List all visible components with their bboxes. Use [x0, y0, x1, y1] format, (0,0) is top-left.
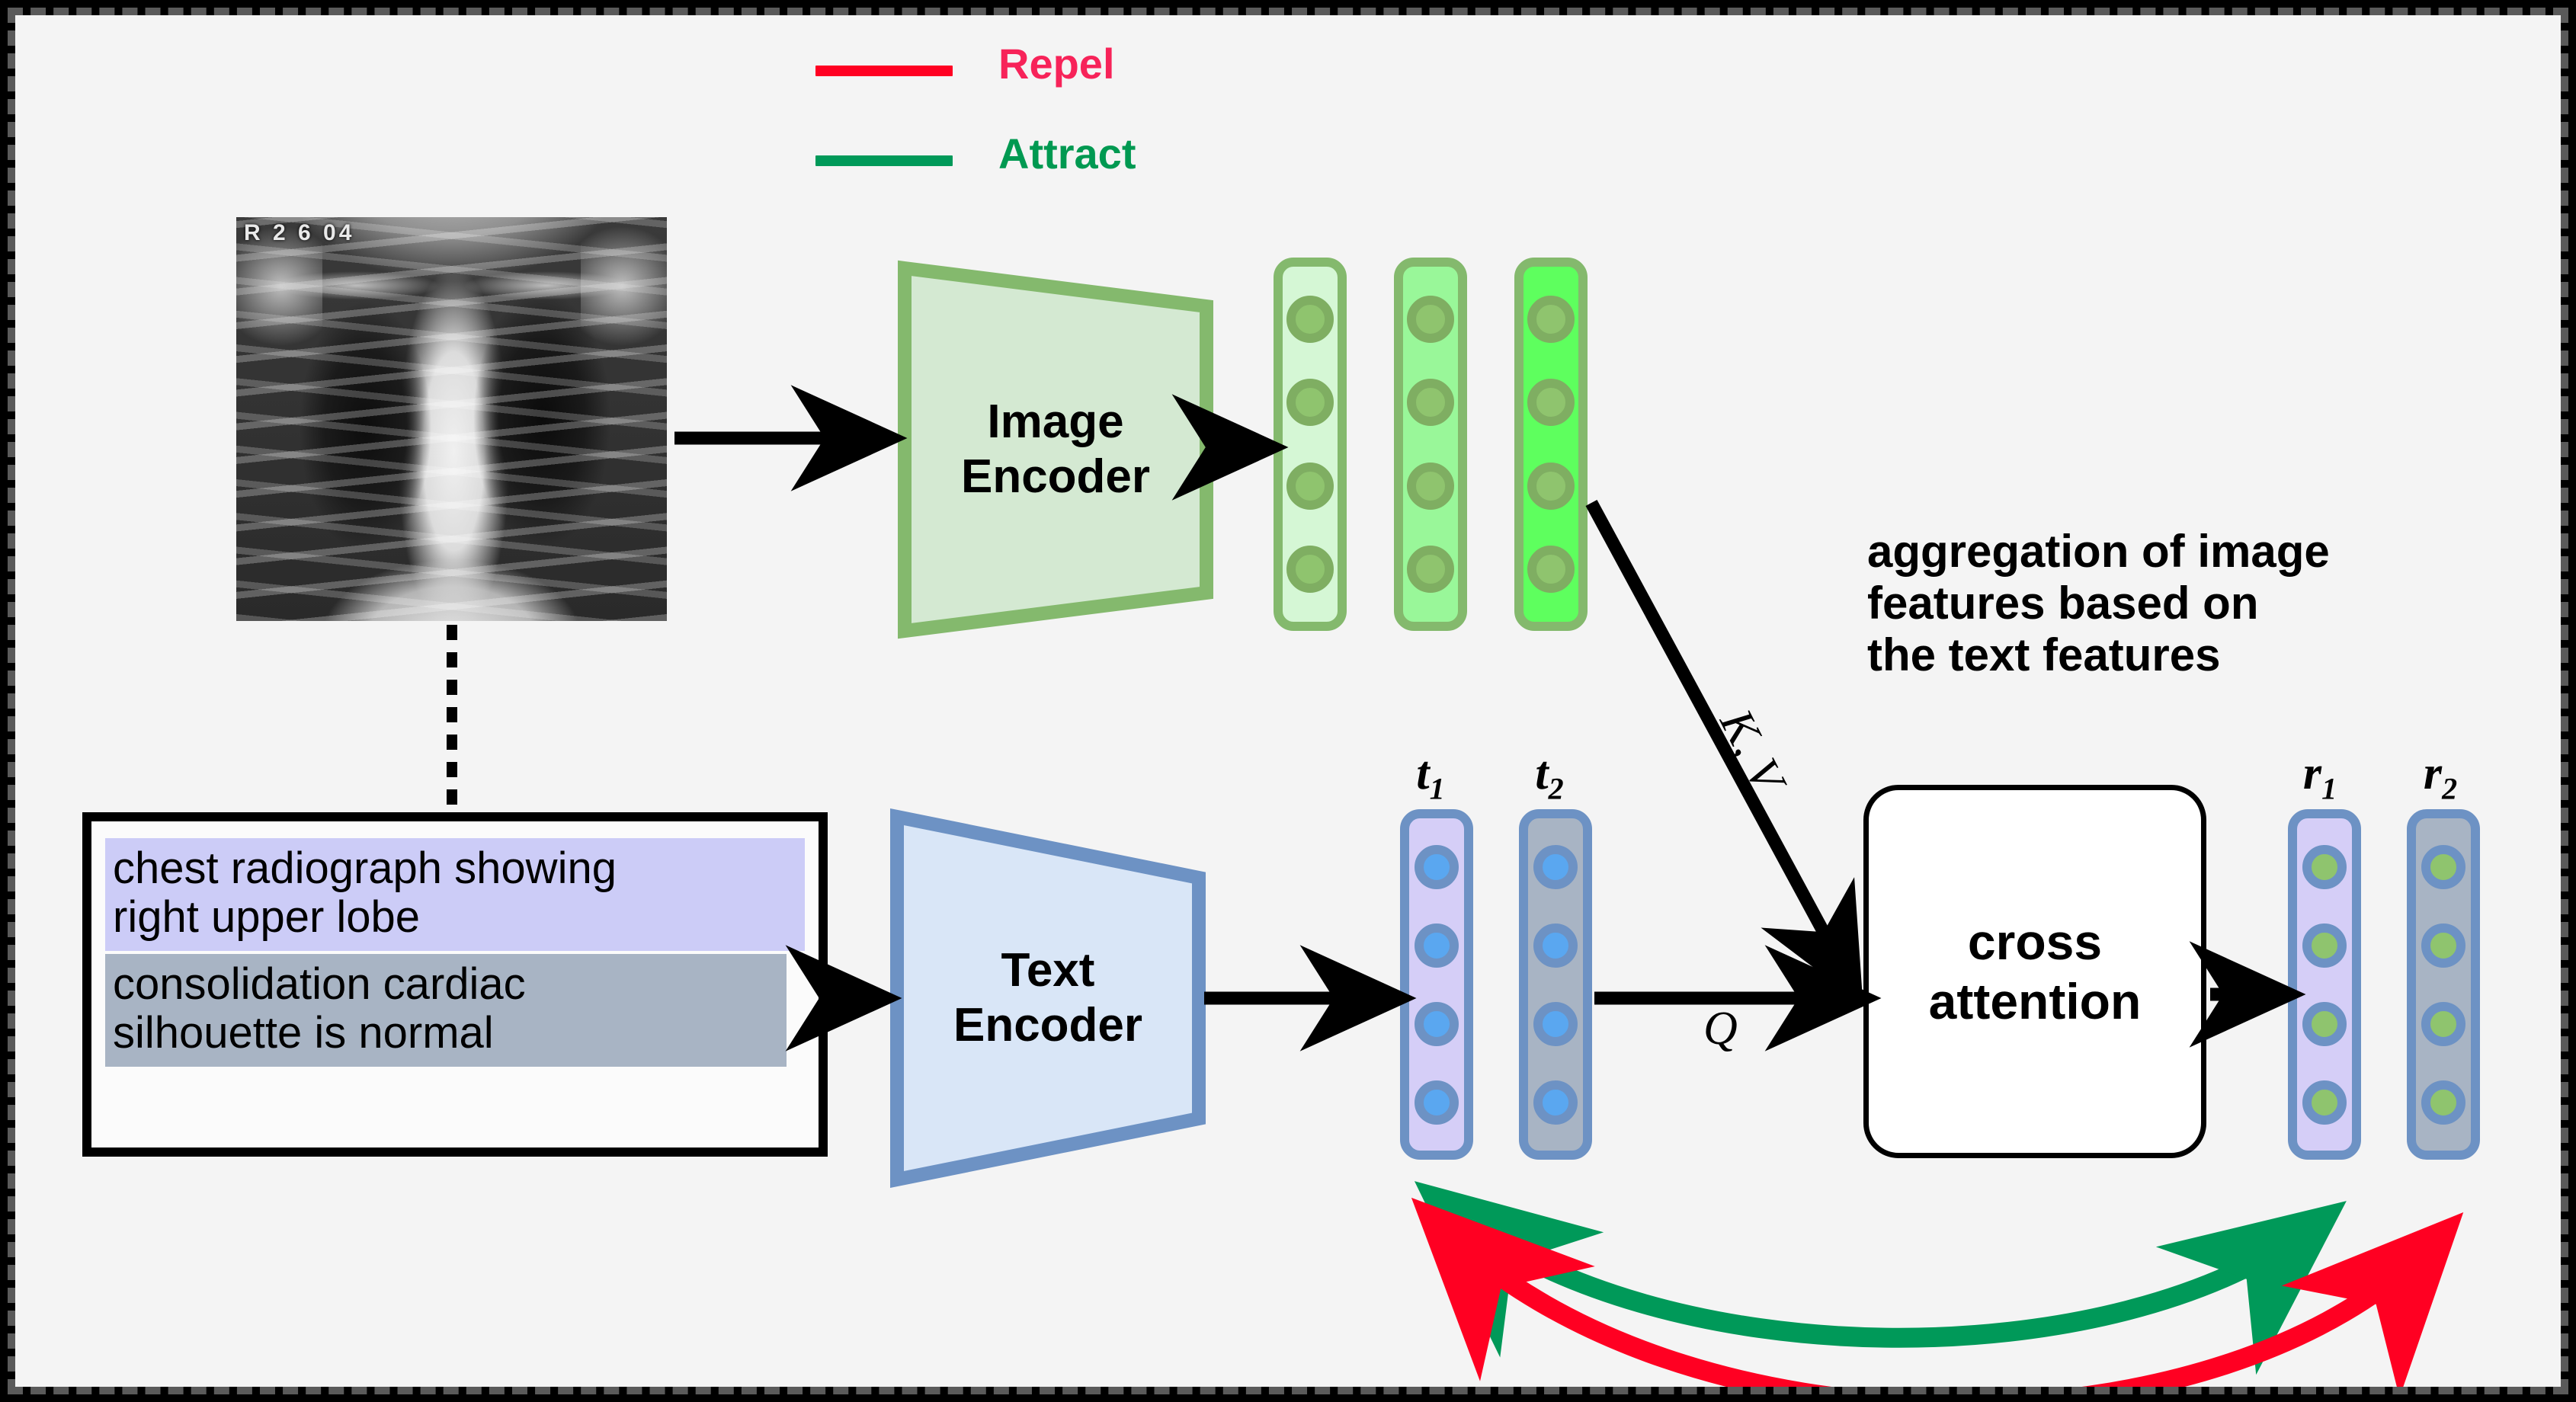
caption-subscript: 1 [2321, 771, 2337, 805]
feature-node [2421, 923, 2465, 968]
aggregation-note: aggregation of image features based on t… [1867, 526, 2507, 681]
feature-node [1527, 379, 1575, 426]
feature-node [2302, 1080, 2347, 1125]
image-feature-column-1[interactable] [1274, 258, 1347, 631]
caption-letter: r [2424, 747, 2442, 799]
feature-node [2302, 845, 2347, 889]
feature-node [1533, 1080, 1578, 1125]
feature-node [1286, 546, 1334, 593]
image-report-link-dotted-line [447, 625, 457, 815]
radiology-report-box: chest radiograph showing right upper lob… [82, 812, 828, 1157]
caption-letter: t [1416, 747, 1429, 799]
feature-node [1527, 296, 1575, 343]
legend-label-attract: Attract [998, 133, 1136, 175]
feature-node [1286, 379, 1334, 426]
feature-node [2421, 1002, 2465, 1046]
legend-label-repel: Repel [998, 43, 1115, 85]
feature-node [1415, 1080, 1459, 1125]
caption-letter: r [2303, 747, 2321, 799]
figure-canvas: Repel Attract R 2 6 04 chest radiograph … [0, 0, 2576, 1402]
feature-node [2421, 845, 2465, 889]
query-label: Q [1703, 1002, 1738, 1056]
aggregated-feature-caption-r2: r2 [2398, 747, 2482, 806]
feature-node [1533, 1002, 1578, 1046]
aggregated-feature-column-r2[interactable] [2407, 809, 2480, 1160]
feature-node [2302, 923, 2347, 968]
feature-node [1527, 463, 1575, 510]
text-feature-caption-t1: t1 [1389, 747, 1472, 806]
feature-node [1533, 923, 1578, 968]
feature-node [1407, 296, 1454, 343]
feature-node [1415, 845, 1459, 889]
report-sentence-1: chest radiograph showing right upper lob… [105, 838, 805, 951]
feature-node [1533, 845, 1578, 889]
caption-subscript: 2 [2442, 771, 2457, 805]
repel-arrow-t1-r2 [1437, 1223, 2439, 1387]
feature-node [1415, 1002, 1459, 1046]
feature-node [1286, 296, 1334, 343]
image-feature-column-2[interactable] [1394, 258, 1467, 631]
feature-node [2302, 1002, 2347, 1046]
feature-node [1415, 923, 1459, 968]
legend-swatch-repel [815, 66, 953, 76]
chest-xray-image: R 2 6 04 [236, 217, 667, 621]
image-encoder-block[interactable]: Image Encoder [896, 259, 1216, 640]
attract-arrow-t1-r1 [1442, 1204, 2318, 1338]
feature-node [1407, 379, 1454, 426]
key-value-label: K, V [1709, 701, 1795, 800]
aggregated-feature-caption-r1: r1 [2278, 747, 2362, 806]
text-encoder-label: Text Encoder [888, 943, 1208, 1053]
feature-node [1527, 546, 1575, 593]
caption-subscript: 2 [1549, 771, 1564, 805]
image-encoder-label: Image Encoder [896, 395, 1216, 504]
caption-subscript: 1 [1430, 771, 1445, 805]
xray-marker-text: R 2 6 04 [244, 220, 354, 246]
text-feature-caption-t2: t2 [1507, 747, 1591, 806]
text-feature-column-t2[interactable] [1519, 809, 1592, 1160]
feature-node [1407, 546, 1454, 593]
image-feature-column-3[interactable] [1514, 258, 1588, 631]
report-sentence-2: consolidation cardiac silhouette is norm… [105, 954, 787, 1067]
diagram-surface: Repel Attract R 2 6 04 chest radiograph … [15, 15, 2561, 1387]
cross-attention-block[interactable]: cross attention [1863, 785, 2206, 1158]
feature-node [1407, 463, 1454, 510]
xray-clavicles [254, 245, 650, 310]
text-feature-column-t1[interactable] [1400, 809, 1473, 1160]
legend-swatch-attract [815, 155, 953, 166]
aggregated-feature-column-r1[interactable] [2288, 809, 2361, 1160]
cross-attention-label: cross attention [1929, 912, 2142, 1031]
feature-node [2421, 1080, 2465, 1125]
text-encoder-block[interactable]: Text Encoder [888, 808, 1208, 1189]
caption-letter: t [1535, 747, 1548, 799]
feature-node [1286, 463, 1334, 510]
